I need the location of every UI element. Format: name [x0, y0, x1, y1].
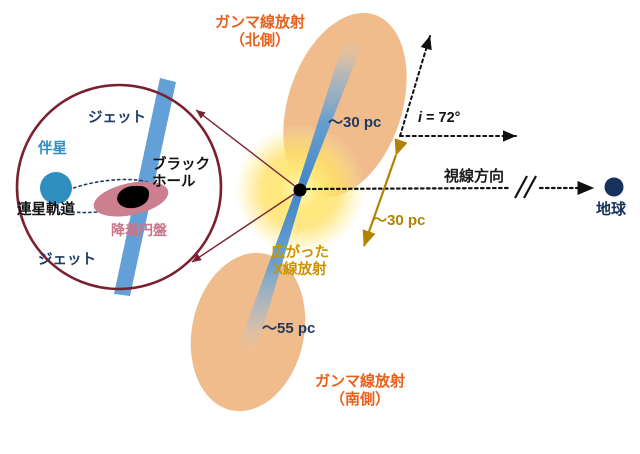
- xray-extended-label: 広がった X線放射: [252, 245, 348, 279]
- scale-north-label: ～30 pc: [328, 114, 381, 132]
- xray-extended-label-line2: X線放射: [252, 262, 348, 279]
- black-hole-label-line2: ホール: [152, 174, 210, 191]
- xray-extended-label-line1: 広がった: [252, 245, 348, 262]
- scale-xray-label: ～30 pc: [372, 212, 425, 230]
- line-of-sight-label: 視線方向: [444, 168, 504, 186]
- gamma-north-label: ガンマ線放射 （北側）: [190, 14, 330, 49]
- inset-jet-top-label: ジェット: [88, 110, 146, 127]
- black-hole-label: ブラック ホール: [152, 157, 210, 191]
- inclination-value: = 72°: [422, 110, 460, 126]
- gamma-north-label-line2: （北側）: [190, 32, 330, 50]
- gamma-south-label-line1: ガンマ線放射: [290, 373, 430, 391]
- figure-root: ガンマ線放射 （北側） ガンマ線放射 （南側） ～30 pc ～55 pc ～3…: [0, 0, 640, 454]
- gamma-south-label: ガンマ線放射 （南側）: [290, 373, 430, 408]
- earth-dot: [605, 178, 624, 197]
- companion-star-label: 伴星: [38, 141, 67, 158]
- core-black-hole-dot: [294, 184, 307, 197]
- gamma-north-label-line1: ガンマ線放射: [190, 14, 330, 32]
- binary-orbit-label: 連星軌道: [17, 202, 75, 219]
- gamma-south-label-line2: （南側）: [290, 391, 430, 409]
- scale-south-label: ～55 pc: [262, 320, 315, 338]
- inclination-label: i = 72°: [418, 110, 460, 127]
- black-hole-label-line1: ブラック: [152, 157, 210, 174]
- companion-star: [40, 172, 72, 204]
- inset-jet-bottom-label: ジェット: [38, 252, 96, 269]
- accretion-disk-label: 降着円盤: [111, 222, 167, 239]
- earth-label: 地球: [596, 201, 626, 219]
